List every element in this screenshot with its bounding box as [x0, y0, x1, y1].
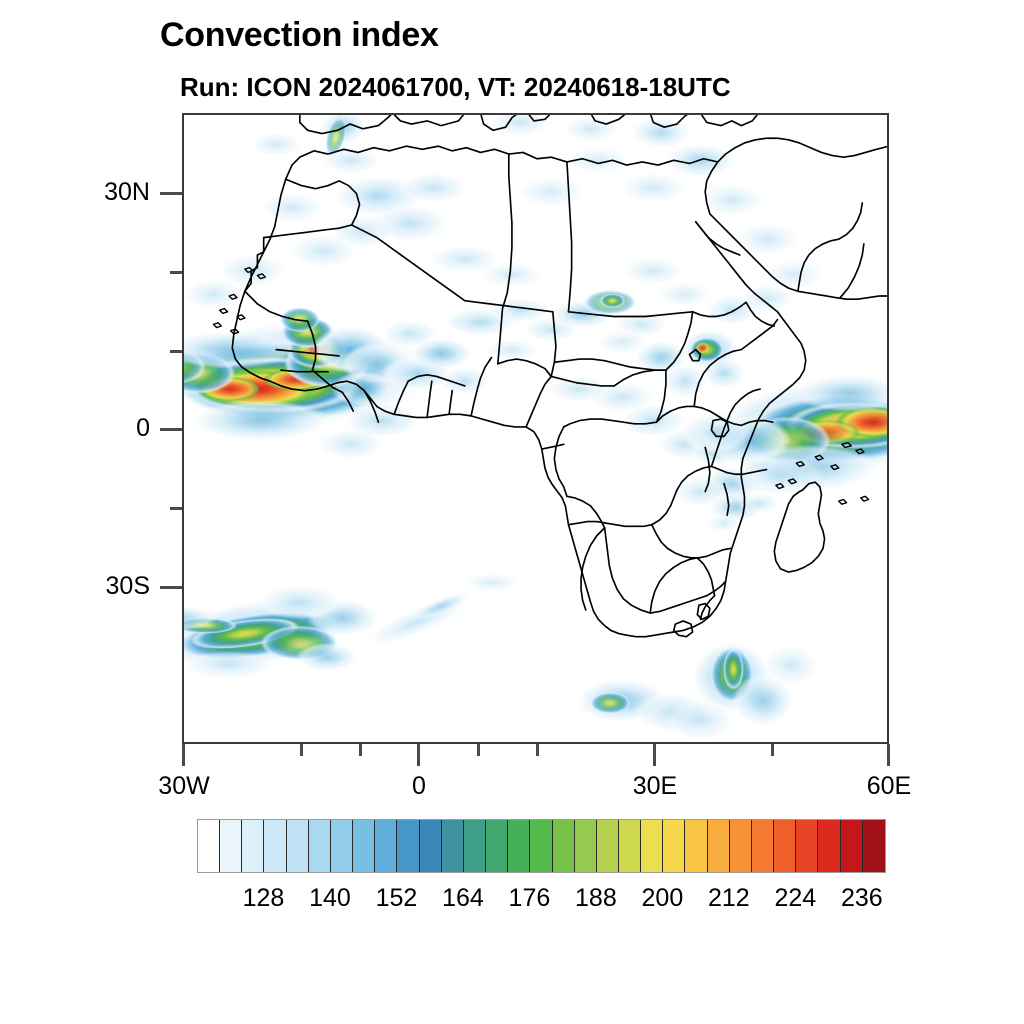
ytick-major-30n	[160, 192, 182, 195]
colorbar	[197, 819, 886, 873]
ytick-minor-15n	[170, 271, 182, 274]
ytick-label-30n: 30N	[40, 178, 150, 207]
xtick-major-30w	[182, 744, 185, 766]
colorbar-cell	[397, 820, 419, 872]
xtick-minor-15w	[300, 744, 303, 756]
xtick-minor-45e	[771, 744, 774, 756]
page-subtitle: Run: ICON 2024061700, VT: 20240618-18UTC	[180, 72, 731, 103]
map-plot-area	[182, 113, 889, 744]
colorbar-cell	[575, 820, 597, 872]
xtick-label-30e: 30E	[593, 772, 717, 801]
ytick-label-0: 0	[40, 414, 150, 443]
colorbar-cell	[486, 820, 508, 872]
colorbar-cell	[442, 820, 464, 872]
xtick-label-30w: 30W	[122, 772, 246, 801]
colorbar-cell	[796, 820, 818, 872]
colorbar-cell	[818, 820, 840, 872]
xtick-minor-a	[359, 744, 362, 756]
ytick-minor-15s	[170, 507, 182, 510]
colorbar-cell	[685, 820, 707, 872]
colorbar-cell	[553, 820, 575, 872]
xtick-label-0: 0	[357, 772, 481, 801]
xtick-major-0	[417, 744, 420, 766]
colorbar-cell	[597, 820, 619, 872]
colorbar-cell	[309, 820, 331, 872]
ytick-minor-inner-n	[170, 350, 182, 353]
colorbar-cell	[708, 820, 730, 872]
colorbar-tick-label: 236	[802, 884, 922, 913]
colorbar-cell	[641, 820, 663, 872]
colorbar-cell	[264, 820, 286, 872]
colorbar-cell	[863, 820, 885, 872]
colorbar-cell	[530, 820, 552, 872]
xtick-minor-15e	[536, 744, 539, 756]
colorbar-cell	[730, 820, 752, 872]
colorbar-cell	[287, 820, 309, 872]
colorbar-cell	[464, 820, 486, 872]
colorbar-cell	[242, 820, 264, 872]
ytick-major-30s	[160, 586, 182, 589]
colorbar-cell	[420, 820, 442, 872]
colorbar-cell	[375, 820, 397, 872]
colorbar-cell	[353, 820, 375, 872]
colorbar-cell	[508, 820, 530, 872]
colorbar-cell	[841, 820, 863, 872]
xtick-major-60e	[887, 744, 890, 766]
colorbar-cell	[331, 820, 353, 872]
xtick-minor-b	[477, 744, 480, 756]
colorbar-cell	[663, 820, 685, 872]
colorbar-cell	[774, 820, 796, 872]
ytick-label-30s: 30S	[40, 572, 150, 601]
colorbar-cell	[198, 820, 220, 872]
colorbar-cell	[752, 820, 774, 872]
xtick-major-30e	[653, 744, 656, 766]
xtick-label-60e: 60E	[827, 772, 951, 801]
map-svg	[182, 113, 889, 744]
page-title: Convection index	[160, 16, 439, 55]
colorbar-cell	[619, 820, 641, 872]
colorbar-cell	[220, 820, 242, 872]
ytick-major-0	[160, 428, 182, 431]
